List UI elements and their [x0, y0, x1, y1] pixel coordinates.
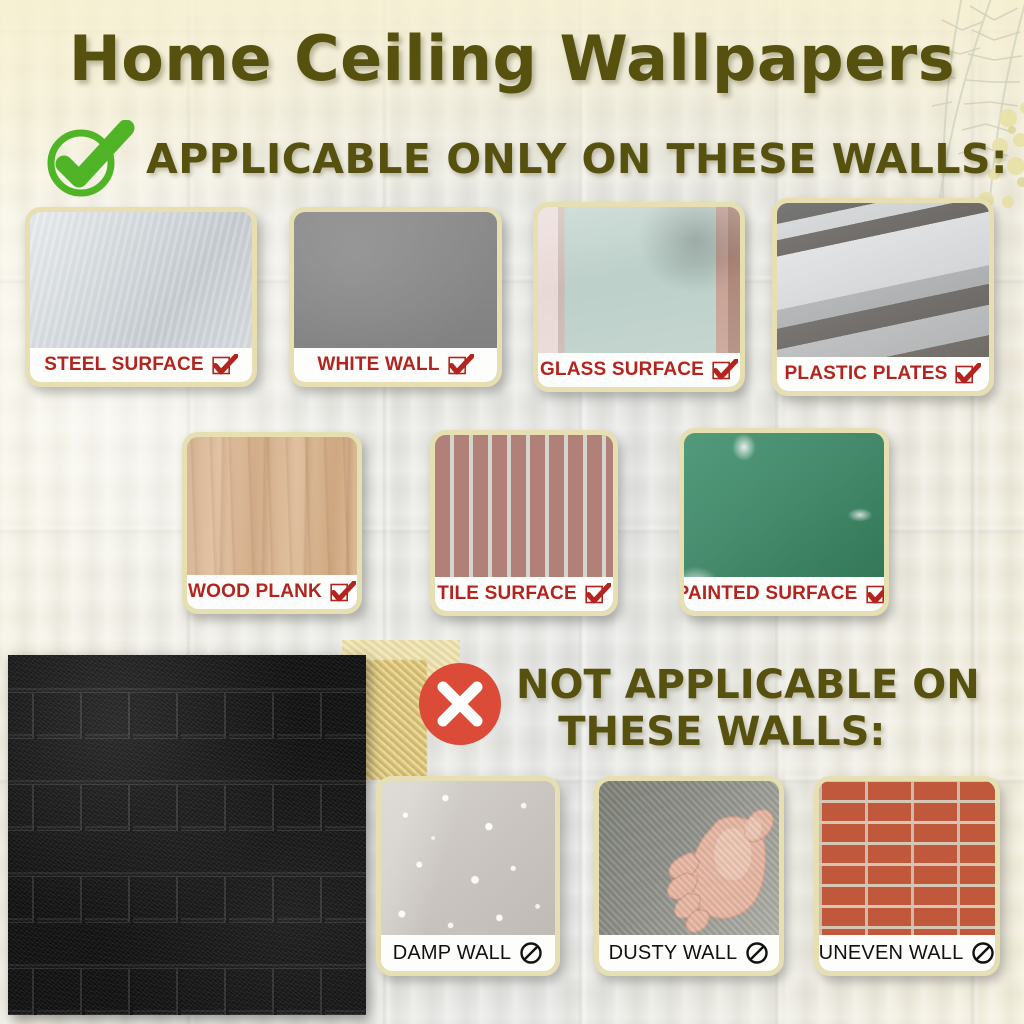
tile-label-text: PLASTIC PLATES [785, 363, 948, 385]
panel-surface-sheen [8, 655, 366, 1015]
applicable-heading-row: APPLICABLE ONLY ON THESE WALLS: [0, 120, 1024, 198]
tile-label-bar: TILE SURFACE [435, 577, 613, 611]
tile-white-wall[interactable]: WHITE WALL [289, 207, 502, 387]
not-applicable-text: NOT APPLICABLE ON THESE WALLS: [516, 660, 980, 756]
red-check-mark-icon [866, 583, 889, 605]
tile-label-text: WHITE WALL [317, 354, 439, 376]
red-x-circle-icon [418, 662, 502, 746]
red-check-mark-icon [330, 581, 356, 603]
red-check-mark-icon [448, 354, 474, 376]
tile-label-text: PAINTED SURFACE [679, 583, 858, 605]
tile-label-bar: WOOD PLANK [187, 575, 357, 609]
tile-painted-surface[interactable]: PAINTED SURFACE [679, 428, 889, 616]
not-applicable-line-1: NOT APPLICABLE ON [516, 662, 980, 708]
tile-uneven-wall[interactable]: UNEVEN WALL [814, 776, 1000, 976]
tile-label-text: DUSTY WALL [609, 942, 738, 965]
tile-label-bar: PAINTED SURFACE [684, 577, 884, 611]
background-straw-patch [357, 660, 427, 780]
tile-label-text: UNEVEN WALL [819, 942, 964, 965]
tile-label-text: GLASS SURFACE [540, 359, 704, 381]
tile-tile-surface[interactable]: TILE SURFACE [430, 430, 618, 616]
prohibited-icon [745, 941, 769, 965]
tile-damp-wall[interactable]: DAMP WALL [376, 776, 560, 976]
tile-label-text: STEEL SURFACE [44, 354, 204, 376]
tile-label-bar: UNEVEN WALL [819, 935, 995, 971]
not-applicable-heading-block: NOT APPLICABLE ON THESE WALLS: [418, 660, 1018, 756]
red-check-mark-icon [955, 363, 981, 385]
tile-dusty-wall[interactable]: DUSTY WALL [594, 776, 784, 976]
tile-label-bar: PLASTIC PLATES [777, 357, 989, 391]
tile-wood-plank[interactable]: WOOD PLANK [182, 432, 362, 614]
not-applicable-line-2: THESE WALLS: [516, 709, 980, 756]
red-check-mark-icon [585, 583, 611, 605]
tile-label-text: WOOD PLANK [188, 581, 322, 603]
tile-label-text: DAMP WALL [393, 942, 512, 965]
tile-label-bar: WHITE WALL [294, 348, 497, 382]
infographic-canvas: Home Ceiling Wallpapers APPLICABLE ONLY … [0, 0, 1024, 1024]
prohibited-icon [971, 941, 995, 965]
red-check-mark-icon [212, 354, 238, 376]
tile-label-bar: DAMP WALL [381, 935, 555, 971]
tile-plastic-plates[interactable]: PLASTIC PLATES [772, 198, 994, 396]
red-check-mark-icon [712, 359, 738, 381]
prohibited-icon [519, 941, 543, 965]
tile-steel-surface[interactable]: STEEL SURFACE [25, 207, 257, 387]
tile-label-bar: STEEL SURFACE [30, 348, 252, 382]
tile-glass-surface[interactable]: GLASS SURFACE [533, 202, 745, 392]
green-check-circle-icon [40, 120, 136, 198]
page-title: Home Ceiling Wallpapers [0, 22, 1024, 95]
hand-icon [664, 796, 776, 944]
applicable-heading-text: APPLICABLE ONLY ON THESE WALLS: [146, 135, 1008, 183]
tile-label-text: TILE SURFACE [437, 583, 577, 605]
black-3d-brick-foam-panel[interactable] [8, 655, 366, 1015]
tile-label-bar: GLASS SURFACE [538, 353, 740, 387]
tile-label-bar: DUSTY WALL [599, 935, 779, 971]
